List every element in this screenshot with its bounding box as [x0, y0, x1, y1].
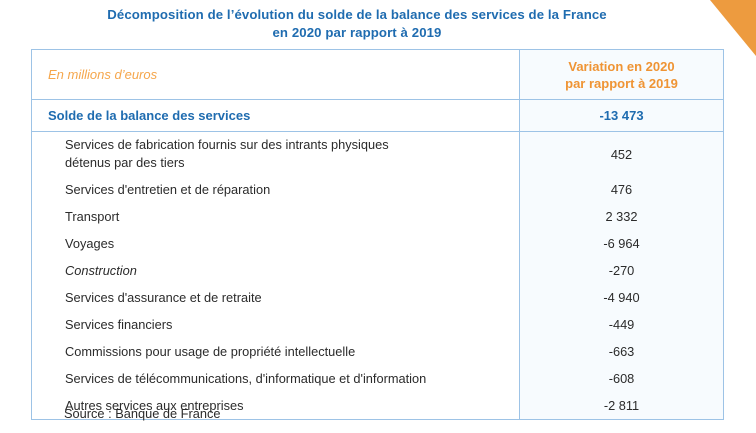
page-root: Décomposition de l’évolution du solde de…	[0, 0, 756, 433]
header-value-line-1: Variation en 2020	[520, 58, 723, 75]
table-header-row: En millions d’euros Variation en 2020 pa…	[32, 50, 724, 100]
row-label: Voyages	[32, 230, 520, 257]
row-label-line-2: détenus par des tiers	[65, 154, 519, 172]
row-label: Services d'entretien et de réparation	[32, 176, 520, 203]
row-value: -6 964	[520, 230, 724, 257]
table-row: Construction -270	[32, 257, 724, 284]
triangle-shape-icon	[710, 0, 756, 56]
page-title-line-1: Décomposition de l’évolution du solde de…	[0, 6, 714, 24]
page-title: Décomposition de l’évolution du solde de…	[0, 6, 714, 41]
header-value-line-2: par rapport à 2019	[520, 75, 723, 92]
source-note: Source : Banque de France	[64, 406, 221, 421]
row-value: 476	[520, 176, 724, 203]
total-value: -13 473	[520, 100, 724, 132]
total-label: Solde de la balance des services	[32, 100, 520, 132]
row-value: -449	[520, 311, 724, 338]
table-row: Services d'entretien et de réparation 47…	[32, 176, 724, 203]
row-value: 452	[520, 132, 724, 177]
header-cell-value: Variation en 2020 par rapport à 2019	[520, 50, 724, 100]
corner-triangle-decoration	[710, 0, 756, 56]
row-value: -270	[520, 257, 724, 284]
services-balance-table: En millions d’euros Variation en 2020 pa…	[31, 49, 724, 420]
row-label: Transport	[32, 203, 520, 230]
row-value: -663	[520, 338, 724, 365]
row-value: -2 811	[520, 392, 724, 420]
table-row: Services financiers -449	[32, 311, 724, 338]
table-row: Voyages -6 964	[32, 230, 724, 257]
table-row: Services de fabrication fournis sur des …	[32, 132, 724, 177]
table-row: Commissions pour usage de propriété inte…	[32, 338, 724, 365]
row-label: Services de fabrication fournis sur des …	[32, 132, 520, 177]
data-table-container: En millions d’euros Variation en 2020 pa…	[31, 49, 723, 420]
header-cell-label: En millions d’euros	[32, 50, 520, 100]
table-row-total: Solde de la balance des services -13 473	[32, 100, 724, 132]
row-label: Commissions pour usage de propriété inte…	[32, 338, 520, 365]
row-value: 2 332	[520, 203, 724, 230]
table-row: Services d'assurance et de retraite -4 9…	[32, 284, 724, 311]
row-label: Construction	[32, 257, 520, 284]
page-title-line-2: en 2020 par rapport à 2019	[0, 24, 714, 42]
row-label: Services financiers	[32, 311, 520, 338]
row-label: Services de télécommunications, d'inform…	[32, 365, 520, 392]
row-value: -4 940	[520, 284, 724, 311]
row-value: -608	[520, 365, 724, 392]
table-row: Transport 2 332	[32, 203, 724, 230]
row-label-line-1: Services de fabrication fournis sur des …	[65, 137, 389, 152]
row-label: Services d'assurance et de retraite	[32, 284, 520, 311]
table-row: Services de télécommunications, d'inform…	[32, 365, 724, 392]
